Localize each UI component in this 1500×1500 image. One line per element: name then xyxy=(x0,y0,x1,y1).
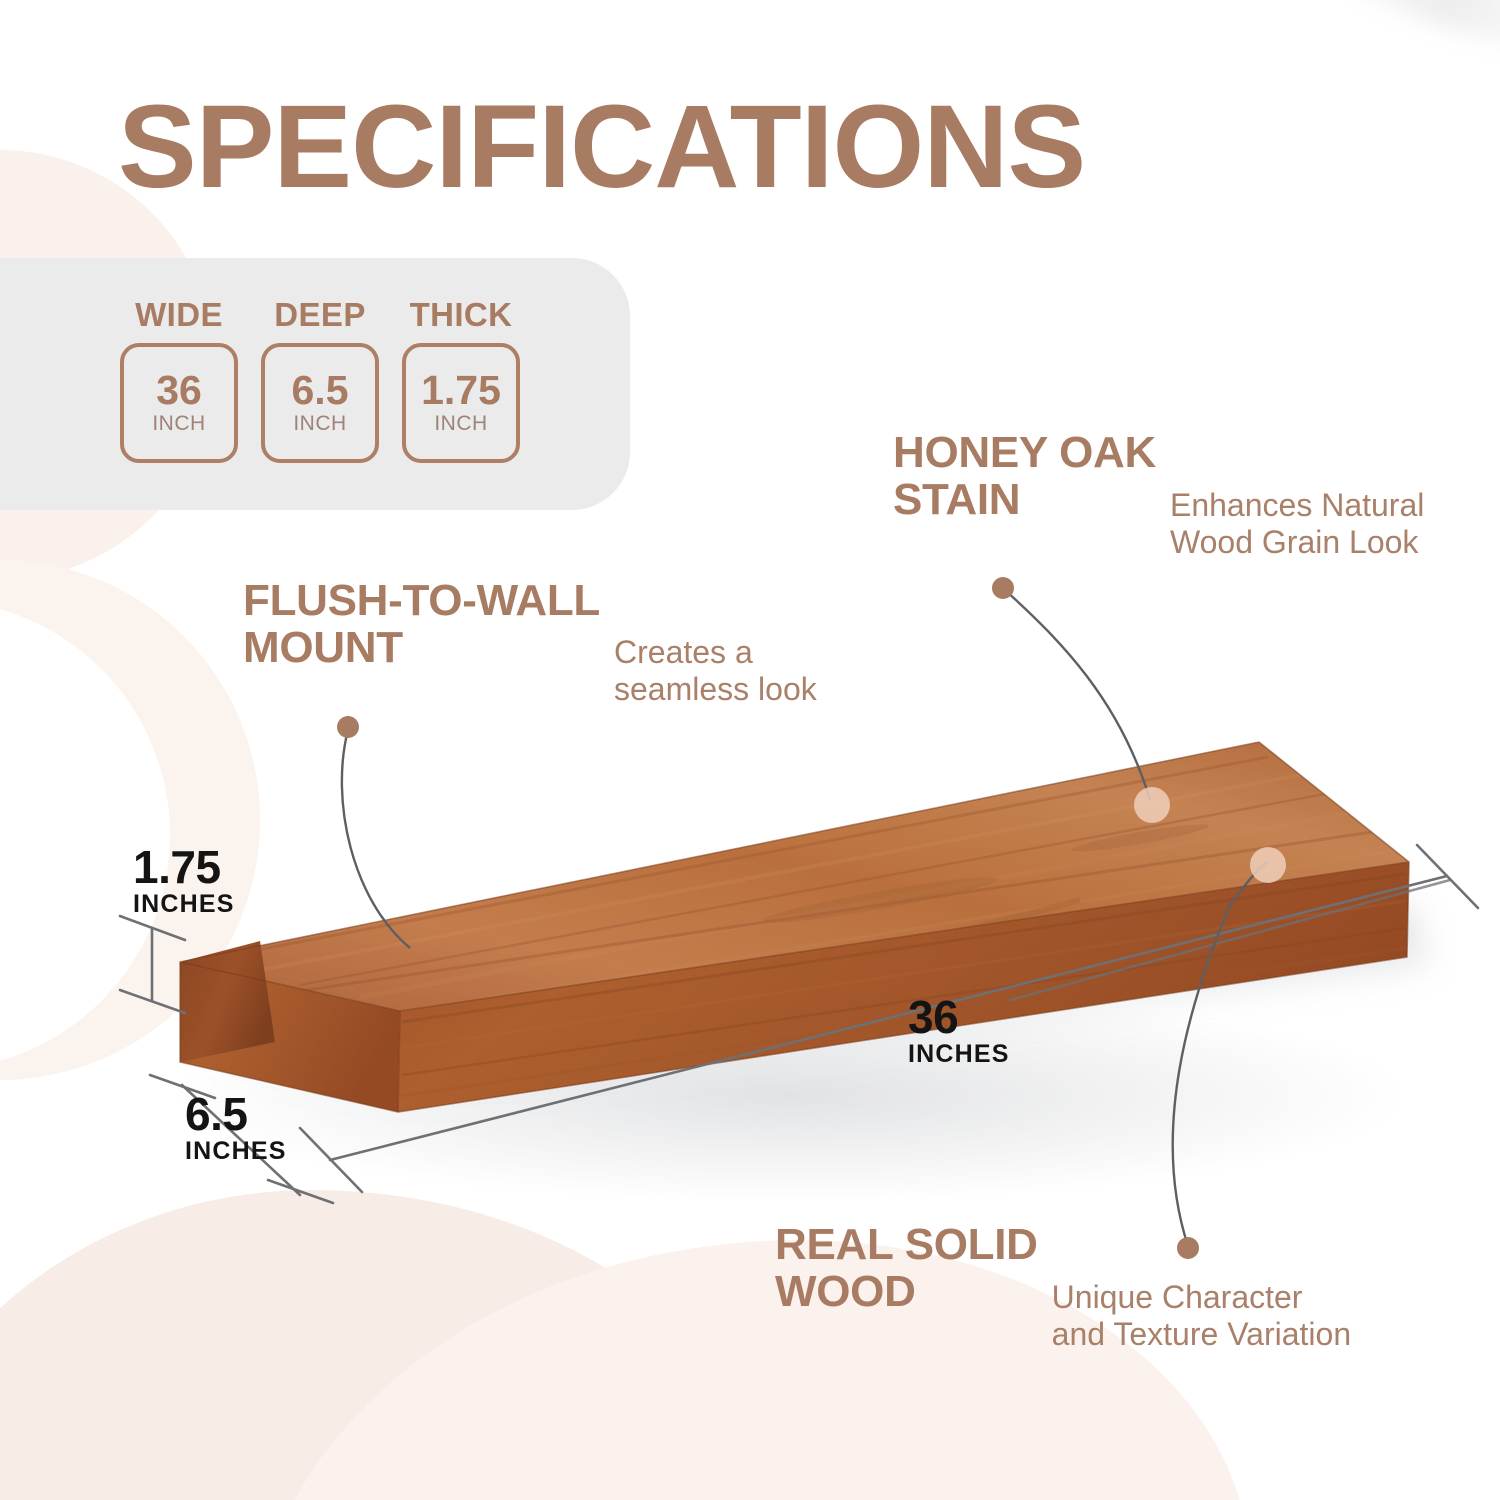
specifications-infographic: SPECIFICATIONS WIDE 36 INCH DEEP 6.5 INC… xyxy=(0,0,1500,1500)
anchor-dot-real-solid-wood xyxy=(1250,847,1286,883)
leader-flush-to-wall xyxy=(342,730,410,948)
callout-flush-to-wall-mount: FLUSH-TO-WALL MOUNT Creates a seamless l… xyxy=(243,578,817,709)
dimension-label-thickness: 1.75 INCHES xyxy=(133,845,235,919)
dimension-value-thickness: 1.75 xyxy=(133,845,235,890)
dimension-value-depth: 6.5 xyxy=(185,1092,287,1137)
callout-subtext-flush-to-wall-mount: Creates a seamless look xyxy=(614,634,817,709)
callout-honey-oak-stain: HONEY OAK STAIN Enhances Natural Wood Gr… xyxy=(893,430,1424,562)
anchor-dot-honey-oak xyxy=(1134,787,1170,823)
dimension-unit-thickness: INCHES xyxy=(133,890,235,919)
leader-dot-flush-to-wall xyxy=(337,716,359,738)
callout-heading-real-solid-wood: REAL SOLID WOOD xyxy=(775,1222,1038,1315)
callout-subtext-real-solid-wood: Unique Character and Texture Variation xyxy=(1052,1279,1351,1354)
dimension-unit-depth: INCHES xyxy=(185,1137,287,1166)
dimension-label-depth: 6.5 INCHES xyxy=(185,1092,287,1166)
dimension-value-width: 36 xyxy=(908,995,1010,1040)
callout-heading-flush-to-wall-mount: FLUSH-TO-WALL MOUNT xyxy=(243,578,600,671)
callout-subtext-honey-oak-stain: Enhances Natural Wood Grain Look xyxy=(1170,487,1424,562)
dimension-label-width: 36 INCHES xyxy=(908,995,1010,1069)
callout-real-solid-wood: REAL SOLID WOOD Unique Character and Tex… xyxy=(775,1222,1351,1354)
dimension-unit-width: INCHES xyxy=(908,1040,1010,1069)
leader-dot-honey-oak xyxy=(992,577,1014,599)
callout-heading-honey-oak-stain: HONEY OAK STAIN xyxy=(893,430,1156,523)
